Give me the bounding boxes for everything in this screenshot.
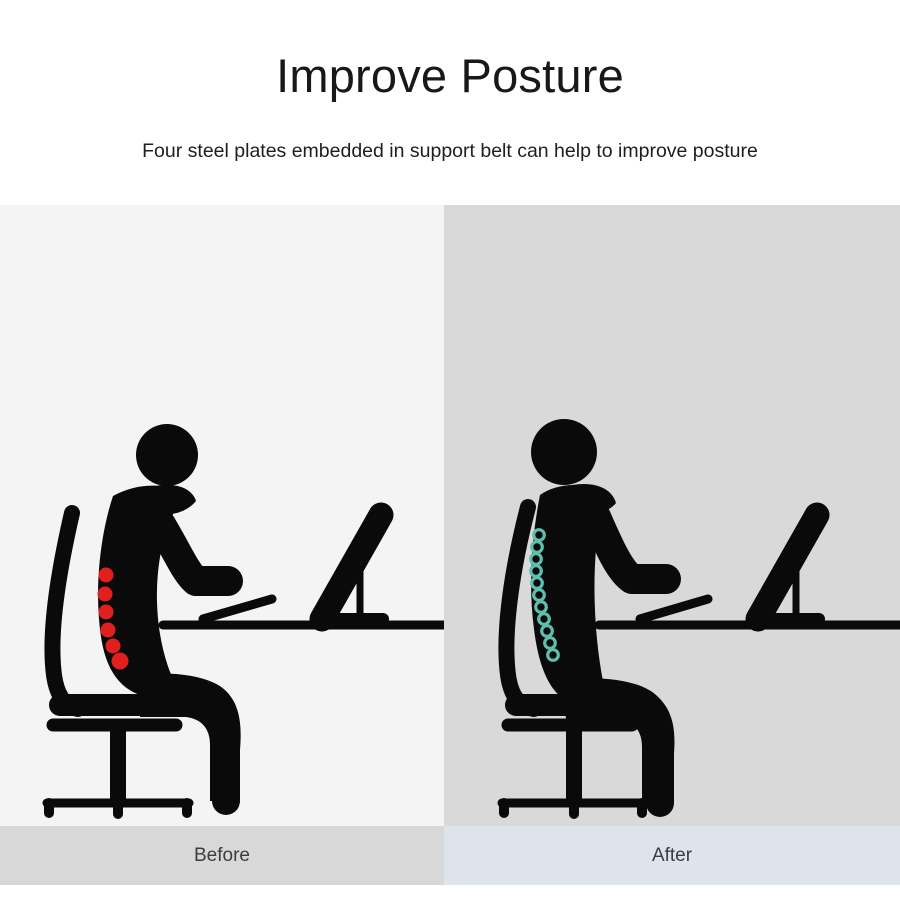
- chair-backrest-icon: [52, 513, 78, 709]
- spine-marker-dot: [98, 587, 113, 602]
- person-head-icon: [531, 419, 597, 485]
- panel-before: [0, 205, 444, 826]
- spine-marker-dot: [112, 653, 129, 670]
- posture-comparison-page: Improve Posture Four steel plates embedd…: [0, 0, 900, 900]
- page-title: Improve Posture: [0, 47, 900, 105]
- monitor-screen-icon: [758, 515, 817, 619]
- person-arm-icon: [596, 517, 666, 579]
- footer-padding: [0, 885, 900, 900]
- caption-after: After: [444, 826, 900, 885]
- person-head-icon: [136, 424, 198, 486]
- chair-backrest-icon: [506, 507, 534, 709]
- panel-after: [444, 205, 900, 826]
- comparison-panels: [0, 205, 900, 826]
- header: Improve Posture Four steel plates embedd…: [0, 0, 900, 205]
- page-subtitle: Four steel plates embedded in support be…: [0, 138, 900, 164]
- keyboard-icon: [640, 599, 708, 619]
- spine-marker-dot: [106, 639, 121, 654]
- person-arm-icon: [160, 523, 228, 581]
- spine-marker-dot: [101, 623, 116, 638]
- caption-strip: Before After: [0, 826, 900, 885]
- keyboard-icon: [203, 599, 272, 619]
- after-illustration: [444, 205, 900, 826]
- spine-marker-dot: [99, 605, 114, 620]
- spine-marker-dot: [99, 568, 114, 583]
- caption-before: Before: [0, 826, 444, 885]
- monitor-screen-icon: [322, 515, 381, 619]
- before-illustration: [0, 205, 444, 826]
